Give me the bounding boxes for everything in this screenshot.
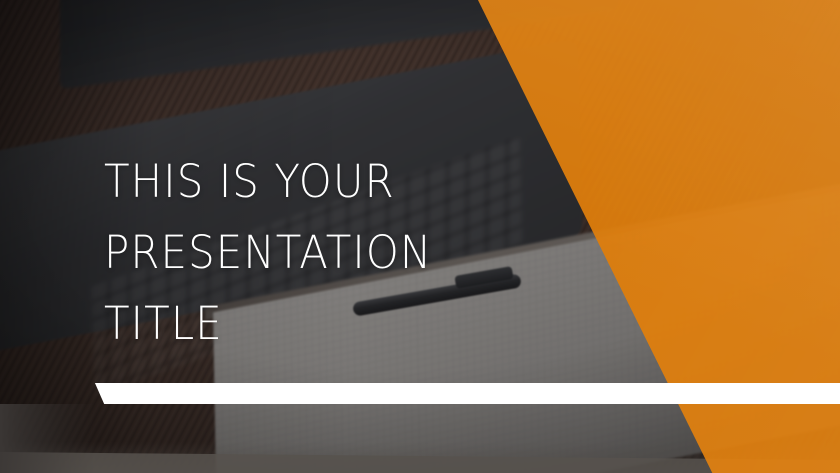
white-slanted-divider-bar — [0, 383, 840, 404]
bottom-left-shadow — [0, 404, 95, 473]
slide-title-line-3: TITLE — [104, 288, 457, 359]
slide-title: THIS IS YOUR PRESENTATION TITLE — [104, 146, 484, 359]
slide-title-line-2: PRESENTATION — [104, 217, 457, 288]
presentation-title-slide: THIS IS YOUR PRESENTATION TITLE — [0, 0, 840, 473]
slide-title-line-1: THIS IS YOUR — [104, 146, 457, 217]
